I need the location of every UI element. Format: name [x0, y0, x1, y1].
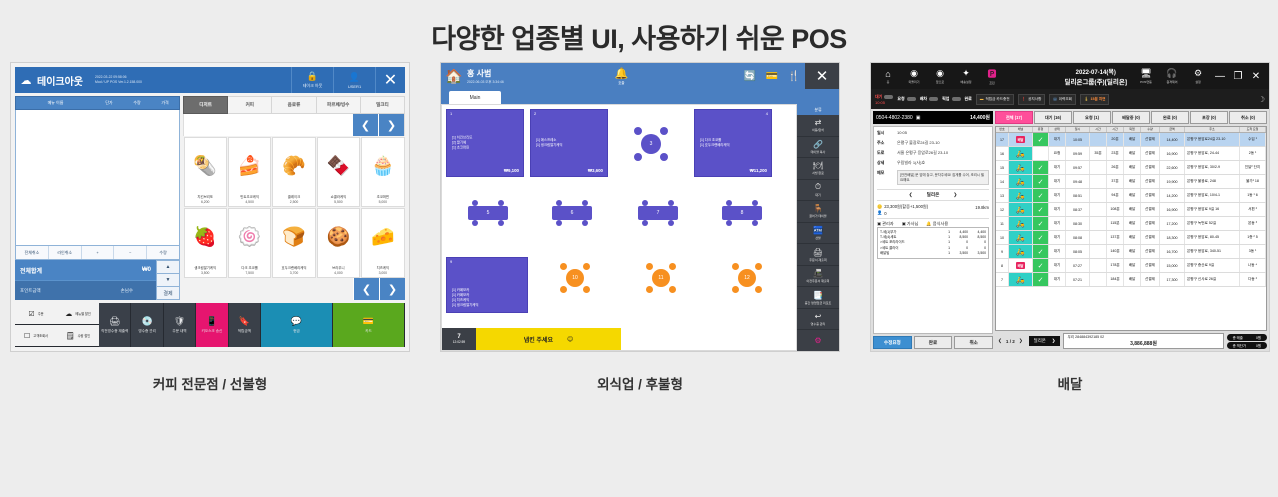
cell-address: 은평구 응암로, 24-44	[1185, 147, 1240, 160]
table-amount: ₩3,600	[588, 168, 603, 173]
pos1-title: 테이크아웃	[37, 73, 83, 88]
tab-main-floor[interactable]: Main	[449, 91, 501, 104]
pos1-close-button[interactable]: ✕	[375, 67, 405, 93]
tab-wait[interactable]: 대기 (16)	[1034, 111, 1072, 124]
order-table[interactable]: 번호 채널 유형 상태 일시 시간 시간 픽업 수량 금액 주소 도착 요청	[995, 126, 1267, 331]
status-chip-pickup[interactable]: 픽업	[942, 96, 960, 102]
cell-amount: 18,300	[1160, 231, 1185, 244]
product-tile[interactable]: 🍥 다크 초코롤 7,500	[228, 208, 271, 278]
sidebar-item-serve-done[interactable]: 🍽 서빙 완료	[797, 158, 839, 180]
table-items: [1] 치킨브리또 [2] 딸기에 [1] 초코머핀	[452, 135, 472, 150]
field-datetime: 일시 10:05	[877, 130, 989, 136]
document-icon: ▤	[1053, 97, 1056, 101]
pos1-cart-header: 메뉴 이름 단가 수량 가격	[15, 96, 180, 110]
cell-datetime: 09:48	[1066, 175, 1090, 188]
order-label: 주문	[38, 311, 44, 316]
table-number: 11	[652, 269, 670, 287]
tab-request[interactable]: 요청 (1)	[1073, 111, 1111, 124]
order-table-body: 17배달✓대기10:0520분배달선결제14,400은평구 응암로24길 23-…	[996, 133, 1266, 287]
menu-discount-button[interactable]: ☁ 메뉴별 할인	[57, 303, 99, 325]
request-edit-button[interactable]: 수정요청	[873, 336, 912, 349]
cell-pickup: 배달	[1124, 161, 1141, 174]
page-indicator: 1 / 2	[1006, 339, 1015, 344]
scroll-down-button[interactable]: ▼	[156, 274, 180, 287]
cancel-all-button[interactable]: 전체취소	[16, 246, 49, 259]
point-card-charge-button[interactable]: ▬ 적립금 카드충전	[976, 94, 1014, 105]
order-menu-list: T-세(1)부가 1 4,400 4,400 T-세(4)세트 1 8,500 …	[877, 227, 989, 259]
cell-status: 요청	[1049, 147, 1066, 160]
sidebar-item-move[interactable]: ⇄ 이동/합석	[797, 115, 839, 137]
tab-all[interactable]: 전체 (17)	[995, 111, 1033, 124]
cell-pickup: 배달	[1124, 245, 1141, 258]
cloud-icon: ☁	[65, 310, 72, 318]
cell-status: 대기	[1049, 217, 1066, 230]
cell-channel: 🛵	[1009, 217, 1033, 230]
cart-col-name: 메뉴 이름	[16, 100, 95, 106]
cell-no: 8	[996, 259, 1009, 272]
home-icon[interactable]: ⌂ 홈	[875, 69, 901, 84]
product-row: 🌯 치킨브리또 6,200 🍰 민트초코케익 4,500 🥐	[183, 136, 405, 207]
pos3-order-list-panel: 전체 (17) 대기 (16) 요청 (1) 배달중 (0) 완료 (0) 포장…	[995, 111, 1267, 349]
status-chip-done[interactable]: 완료	[965, 96, 972, 102]
table-row[interactable]: 17배달✓대기10:0520분배달선결제14,400은평구 응암로24길 23-…	[996, 133, 1266, 147]
product-image: 🍞	[282, 209, 306, 267]
cell-channel: 🛵	[1009, 273, 1033, 286]
table-number: 7	[638, 206, 678, 220]
home-icon[interactable]: 🏠	[441, 68, 467, 85]
cancel-button[interactable]: 취소	[954, 336, 993, 349]
tab-coffee[interactable]: 커피	[228, 96, 272, 114]
product-price: 4,000	[334, 271, 343, 275]
sidebar-item-reprint-prev[interactable]: 📠 이전주문서 재출력	[797, 266, 839, 288]
cell-status: 대기	[1049, 203, 1066, 216]
cell-amount: 17,300	[1160, 273, 1185, 286]
notice-text: 냅킨 주세요	[524, 335, 553, 344]
table-number: 12	[738, 269, 756, 287]
cell-amount: 14,200	[1160, 189, 1185, 202]
product-image: 🧀	[371, 209, 395, 267]
gear-icon[interactable]: ⚙ 설정	[1185, 68, 1211, 84]
pos1-body: 메뉴 이름 단가 수량 가격 전체취소 라인취소 + − 수량	[15, 93, 405, 300]
food-button[interactable]: 🔔 음식사용	[926, 221, 948, 227]
sidebar-item-settings[interactable]: ⚙	[797, 330, 839, 351]
cell-no: 14	[996, 175, 1009, 188]
table-row[interactable]: 16🛵요청09:5935분23분배달선결제16,900은평구 응암로, 24-4…	[996, 147, 1266, 161]
table-12[interactable]: 12	[732, 263, 762, 293]
receipt-manage-button[interactable]: 💿 영수증 관리	[131, 303, 163, 347]
cell-payment: 선결제	[1141, 175, 1160, 188]
table-row[interactable]: 15🛵✓대기09:5726분배달선결제22,600은평구 응암로, 30/2-9…	[996, 161, 1266, 175]
sidebar-item-drag-table[interactable]: 🪑 끌어가 테이블	[797, 201, 839, 223]
product-tile[interactable]: 🥐 쿨레이크 2,500	[272, 137, 315, 207]
product-tile[interactable]: 🍞 호두크랜베리케익 3,700	[272, 208, 315, 278]
page-next-button-bottom[interactable]: ❯	[379, 278, 405, 300]
product-price: 7,500	[245, 271, 254, 275]
kiosk-send-button[interactable]: 📱 키오스크 송신	[196, 303, 228, 347]
cell-no: 16	[996, 147, 1009, 160]
user-icon: 👤	[349, 72, 360, 83]
table-3[interactable]: 3	[634, 127, 668, 161]
cell-note: 본동 ³	[1240, 217, 1266, 230]
product-price: 3,000	[379, 271, 388, 275]
chevron-right-icon: ❯	[1052, 338, 1056, 344]
point-amount-button[interactable]: 🔖 적립금액	[229, 303, 261, 347]
maximize-button[interactable]: ❐	[1229, 71, 1247, 82]
reprint-receipt-button[interactable]: 🖨 직전영수증 재출력	[99, 303, 131, 347]
tab-delivering[interactable]: 배달중 (0)	[1112, 111, 1150, 124]
cell-channel: 🛵	[1009, 147, 1033, 160]
table-row[interactable]: 13🛵✓대기08:5194분배달선결제14,200은평구 응암로, 10/4-1…	[996, 189, 1266, 203]
cell-payment: 선결제	[1141, 231, 1160, 244]
distance-label: 19.8km	[975, 205, 989, 210]
cell-channel: 🛵	[1009, 203, 1033, 216]
cell-channel: 🛵	[1009, 245, 1033, 258]
table-amount: ₩11,200	[750, 168, 767, 173]
qty-plus-button[interactable]: +	[82, 246, 115, 259]
toolbar-order-stack: ☑ 주문 ☐ 고객조회서	[15, 303, 57, 347]
tab-milktea[interactable]: 밀크티	[361, 96, 405, 114]
cell-datetime: 08:37	[1066, 203, 1090, 216]
cell-amount: 19,900	[1160, 175, 1185, 188]
notice-table: 7 12:02:59	[442, 328, 476, 350]
product-image: 🍓	[193, 209, 217, 267]
cell-no: 10	[996, 231, 1009, 244]
order-phone-bar: 0504-4802-2380 ▣ 14,400원	[873, 111, 993, 124]
history-button[interactable]: ▤ 이력조회	[1049, 94, 1076, 105]
table-9[interactable]: 9 [1] 카페모카 [1] 카페모카 [1] 치즈케익 [1] 생크림딸기케익	[446, 257, 528, 313]
refresh-icon[interactable]: 🔄	[739, 71, 761, 82]
report-icon: 📑	[813, 291, 823, 300]
kiosk-send-label: 키오스크 송신	[202, 329, 223, 334]
cell-cook-time: 20분	[1107, 133, 1124, 146]
page-prev-button-bottom[interactable]: ❮	[353, 278, 379, 300]
pos3-frame: ⌂ 홈 ◉ 되돌리기 ◉ 앞으로 ✦ 배송설정 🅿 프린 2022-07-14(…	[870, 62, 1270, 352]
product-tile[interactable]: 🧀 치즈케익 3,000	[361, 208, 404, 278]
tab-dessert[interactable]: 디저트	[183, 96, 228, 114]
call-bell-label: 호출	[618, 80, 624, 85]
cell-elapsed	[1090, 217, 1107, 230]
move-icon: ⇄	[815, 118, 822, 127]
pos-card-coffee: ☁ 테이크아웃 2022-03-22 09:58:06 Mod / UP POS…	[10, 62, 410, 393]
cell-pickup: 배달	[1124, 273, 1141, 286]
cell-cook-time: 23분	[1107, 147, 1124, 160]
cell-type: ✓	[1033, 175, 1049, 188]
pos-card-restaurant: 🏠 홍 사범 2022-06-03 오후 3:34:46 🔔 호출 🔄 💳 🍴 …	[440, 62, 840, 393]
pos1-mode-label: 테이크 아웃	[303, 83, 323, 89]
tag-icon: 🔖	[239, 316, 250, 327]
customer-phone: 0504-4802-2380	[876, 115, 913, 121]
pos3-status-bar: 대기 10:05 요청 배차 픽업 완료 ▬ 적립금 카드충전 ❗ 공지사항 ▤…	[871, 89, 1269, 109]
tab-takeout[interactable]: 포장 (0)	[1190, 111, 1228, 124]
account-info: 우리 284884392185 02 3,886,888원	[1063, 333, 1223, 349]
table-number: 2	[534, 111, 536, 116]
table-row[interactable]: 14🛵✓대기09:4837분배달선결제19,900은평구 불광로, 248불가¹…	[996, 175, 1266, 189]
cell-no: 13	[996, 189, 1009, 202]
cell-datetime: 09:59	[1066, 147, 1090, 160]
tab-cancel[interactable]: 취소 (0)	[1229, 111, 1267, 124]
caption-delivery: 배달	[870, 373, 1270, 393]
rider-next-icon[interactable]: ❯	[953, 192, 957, 198]
product-tile[interactable]: 🍪 브라우니 4,000	[317, 208, 360, 278]
card-icon[interactable]: 💳	[761, 71, 783, 82]
chair-icon: 🪑	[813, 204, 823, 213]
cash-pay-label: 현금	[293, 329, 300, 334]
customer-lookup-label: 고객조회서	[33, 333, 48, 338]
order-count: 👤 0	[877, 210, 989, 216]
customer-lookup-button[interactable]: ☐ 고객조회서	[15, 325, 57, 347]
table-6[interactable]: 6	[552, 200, 592, 226]
page-prev-button[interactable]: ❮	[352, 114, 378, 136]
page-next-button[interactable]: ❯	[378, 114, 404, 136]
pos1-point-row: 포인트금액 손님수	[15, 280, 156, 300]
pos3-status-tabs: 전체 (17) 대기 (16) 요청 (1) 배달중 (0) 완료 (0) 포장…	[995, 111, 1267, 124]
disc-icon: 💿	[142, 316, 153, 327]
table-2[interactable]: 2 [1] 애스프레소 [1] 생크림딸기케익 ₩3,600	[530, 109, 608, 177]
pos2-header: 🏠 홍 사범 2022-06-03 오후 3:34:46 🔔 호출 🔄 💳 🍴 …	[441, 63, 839, 89]
cash-pay-button[interactable]: 💬 현금	[261, 303, 333, 347]
close-button[interactable]: ✕	[1247, 71, 1265, 82]
cell-amount: 15,000	[1160, 259, 1185, 272]
status-chip-assign[interactable]: 배차	[920, 96, 938, 102]
cell-address: 은평구 불광로, 248	[1185, 175, 1240, 188]
order-fields: 일시 10:05 주소 은평구 불광로24길 23-10 도로 서울 은평구 응…	[873, 126, 993, 334]
smiley-icon: 😊	[567, 336, 573, 343]
pay-button[interactable]: 결제	[156, 287, 180, 300]
pos1-page-nav-top: ❮ ❯	[183, 114, 405, 136]
cell-type: ✓	[1033, 189, 1049, 202]
status-chip-request[interactable]: 요청	[897, 96, 915, 102]
pos2-close-button[interactable]: ✕	[805, 63, 839, 89]
field-memo: 메모 [안전배달] 문 앞에 놓고, 문자주세요! 집게를 수어, 조리시 필요…	[877, 170, 989, 185]
tab-complete[interactable]: 완료 (0)	[1151, 111, 1189, 124]
table-5[interactable]: 5	[468, 200, 508, 226]
plate-icon: 🍽	[813, 161, 823, 170]
table-row[interactable]: 11🛵✓대기08:30115분배달선결제17,200은평구 녹번로 52길본동 …	[996, 217, 1266, 231]
pos1-total-arrows: ▲ ▼ 결제	[156, 260, 180, 300]
table-1[interactable]: 1 [1] 치킨브리또 [2] 딸기에 [1] 초코머핀 ₩9,100	[446, 109, 524, 177]
cell-pickup: 배달	[1124, 189, 1141, 202]
link-icon: 🔗	[813, 140, 823, 149]
sidebar-item-copy[interactable]: 🔗 테이블 복사	[797, 137, 839, 159]
caption-coffee: 커피 전문점 / 선불형	[10, 373, 410, 393]
delivery-settings-icon[interactable]: ✦ 배송설정	[953, 68, 979, 84]
cell-note: 수입 ¹	[1240, 133, 1266, 146]
receipt-manage-label: 영수증 관리	[138, 329, 156, 334]
cell-amount: 14,400	[1160, 133, 1185, 146]
card-pay-button[interactable]: 💳 카드	[333, 303, 405, 347]
cell-address: 은평구 신사로 26길	[1185, 273, 1240, 286]
cell-payment: 선결제	[1141, 133, 1160, 146]
pos3-footer: ❮ 1 / 2 ❯ 딜리온❯ 우리 284884392185 02 3,886,…	[995, 333, 1267, 349]
screenshot-gallery: ☁ 테이크아웃 2022-03-22 09:58:06 Mod / UP POS…	[0, 62, 1278, 393]
cell-note: 서편 ²	[1240, 203, 1266, 216]
complete-button[interactable]: 완료	[914, 336, 953, 349]
table-number: 9	[450, 259, 452, 264]
cell-payment: 선결제	[1141, 161, 1160, 174]
rider-selector[interactable]: ❮ 딜리온 ❯	[877, 189, 989, 201]
cell-pickup: 배달	[1124, 203, 1141, 216]
search-icon[interactable]: ▣	[916, 115, 921, 121]
cell-note: 2동 ¹	[1240, 147, 1266, 160]
note-icon: 🗒	[66, 332, 75, 340]
back-icon[interactable]: ◉ 되돌리기	[901, 68, 927, 84]
qty-minus-button[interactable]: −	[114, 246, 147, 259]
cell-payment: 선결제	[1141, 189, 1160, 202]
table-row[interactable]: 10🛵✓대기08:08137분배달선결제18,300은평구 응암로, 80-45…	[996, 231, 1266, 245]
product-image: 🍪	[327, 209, 351, 267]
pos1-frame: ☁ 테이크아웃 2022-03-22 09:58:06 Mod / UP POS…	[10, 62, 410, 352]
cell-payment: 선결제	[1141, 217, 1160, 230]
product-image: 🍫	[327, 138, 351, 196]
table-11[interactable]: 11	[646, 263, 676, 293]
pagination[interactable]: ❮ 1 / 2 ❯	[995, 338, 1026, 344]
table-number: 5	[468, 206, 508, 220]
table-row[interactable]: 8배달✓대기07:27178분배달선결제15,000은평구 증산로 9길나동 ⁴	[996, 259, 1266, 273]
cell-address: 은평구 응암로, 30/2-9	[1185, 161, 1240, 174]
product-tile[interactable]: 🍫 쇼콜라케익 5,500	[317, 137, 360, 207]
pos1-menu-panel: 디저트 커피 음료류 파르페/빙수 밀크티 ❮ ❯ 🌯	[183, 96, 405, 300]
cell-address: 은평구 녹번로 52길	[1185, 217, 1240, 230]
qty-label[interactable]: 수량	[147, 246, 179, 259]
remote-support-icon[interactable]: 🎧 원격제어	[1159, 68, 1185, 84]
cell-cook-time: 108분	[1107, 203, 1124, 216]
cell-status: 대기	[1049, 245, 1066, 258]
cancel-line-button[interactable]: 라인취소	[49, 246, 82, 259]
table-8[interactable]: 8	[722, 200, 762, 226]
qty-discount-label: 수량 할인	[78, 333, 91, 338]
order-history-button[interactable]: 🛡 주문 내역	[164, 303, 196, 347]
cell-pickup: 배달	[1124, 231, 1141, 244]
pos3-app: ⌂ 홈 ◉ 되돌리기 ◉ 앞으로 ✦ 배송설정 🅿 프린 2022-07-14(…	[871, 63, 1269, 351]
cell-elapsed	[1090, 161, 1107, 174]
cell-type: ✓	[1033, 133, 1049, 146]
worker-button[interactable]: ▣ 가사님	[902, 221, 919, 227]
cell-channel: 🛵	[1009, 231, 1033, 244]
tab-beverage[interactable]: 음료류	[272, 96, 316, 114]
pos3-header-title: 2022-07-14(목) 딜리온그룹(주)[딜리온]	[1065, 67, 1127, 86]
header-shop: 딜리온그룹(주)[딜리온]	[1065, 76, 1127, 86]
pos1-category-tabs: 디저트 커피 음료류 파르페/빙수 밀크티	[183, 96, 405, 114]
card-pay-label: 카드	[365, 329, 372, 334]
cell-type	[1033, 147, 1049, 160]
cell-cook-time: 140분	[1107, 245, 1124, 258]
reprint-receipt-label: 직전영수증 재출력	[101, 329, 128, 334]
gear-icon: ⚙	[814, 336, 821, 345]
print-icon[interactable]: 🅿 프린	[979, 67, 1005, 85]
cell-no: 17	[996, 133, 1009, 146]
cell-type: ✓	[1033, 273, 1049, 286]
total-sales-pill: 총 매출 0원	[1227, 334, 1267, 341]
sidebar-item-receipt-manage[interactable]: ↩ 영수증 관리	[797, 309, 839, 331]
cash-icon: 💬	[291, 316, 302, 327]
cell-type: ✓	[1033, 231, 1049, 244]
table-row[interactable]: 12🛵✓대기08:37108분배달선결제16,900은평구 응암로 9길 16서…	[996, 203, 1266, 217]
sales-pills: 총 매출 0원 총 객단가 0원	[1227, 334, 1267, 349]
avg-sales-pill: 총 객단가 0원	[1227, 342, 1267, 349]
cell-amount: 22,600	[1160, 161, 1185, 174]
pos1-mode-button[interactable]: 🔒 테이크 아웃	[291, 67, 333, 93]
pos2-datetime: 2022-06-03 오후 3:34:46	[467, 79, 504, 84]
scroll-up-button[interactable]: ▲	[156, 260, 180, 274]
cell-amount: 17,200	[1160, 217, 1185, 230]
table-number: 6	[552, 206, 592, 220]
manager-button[interactable]: ▣ 관리자	[877, 221, 894, 227]
cell-elapsed	[1090, 259, 1107, 272]
footer-rider[interactable]: 딜리온❯	[1029, 336, 1061, 346]
cutlery-icon[interactable]: 🍴	[783, 71, 805, 82]
cell-datetime: 07:27	[1066, 259, 1090, 272]
cell-address: 은평구 응암로24길 23-10	[1185, 133, 1240, 146]
call-notice-bar[interactable]: 7 12:02:59 냅킨 주세요 😊	[442, 328, 621, 350]
product-image: 🍰	[238, 138, 262, 196]
product-tile[interactable]: 🍓 생크림딸기케익 3,500	[184, 208, 227, 278]
cell-datetime: 09:57	[1066, 161, 1090, 174]
call-bell-button[interactable]: 🔔 호출	[615, 67, 629, 85]
sidebar-item-prepaid[interactable]: 🏧 선불	[797, 223, 839, 245]
cell-no: 11	[996, 217, 1009, 230]
tab-parfait[interactable]: 파르페/빙수	[317, 96, 361, 114]
table-10[interactable]: 10	[560, 263, 590, 293]
cell-note: 3동 ¹	[1240, 245, 1266, 258]
cell-status: 대기	[1049, 259, 1066, 272]
pos2-title: 홍 사범	[467, 68, 504, 79]
card-icon: 💳	[363, 316, 374, 327]
table-7[interactable]: 7	[638, 200, 678, 226]
sidebar-item-reprint-order[interactable]: 🖨 주문서 재출력	[797, 244, 839, 266]
pos3-header: ⌂ 홈 ◉ 되돌리기 ◉ 앞으로 ✦ 배송설정 🅿 프린 2022-07-14(…	[871, 63, 1269, 89]
product-image: 🧁	[371, 138, 395, 196]
cell-elapsed	[1090, 175, 1107, 188]
minimize-button[interactable]: —	[1211, 71, 1229, 82]
sidebar-item-wait[interactable]: ⏱ 대기	[797, 180, 839, 202]
pos2-main: 1 [1] 치킨브리또 [2] 딸기에 [1] 초코머핀 ₩9,100 2 [1…	[441, 104, 839, 351]
cell-note: 1동 ¹ 6	[1240, 189, 1266, 202]
forward-icon[interactable]: ◉ 앞으로	[927, 68, 953, 84]
table-items: [1] 애스프레소 [1] 생크림딸기케익	[536, 138, 563, 148]
product-tile[interactable]: 🍰 민트초코케익 4,500	[228, 137, 271, 207]
cell-pickup: 배달	[1124, 133, 1141, 146]
cell-payment: 선결제	[1141, 245, 1160, 258]
product-price: 2,500	[290, 200, 299, 204]
page-prev-icon[interactable]: ❮	[998, 338, 1002, 344]
printer-icon: 🖨	[109, 316, 120, 327]
page-next-icon[interactable]: ❯	[1019, 338, 1023, 344]
rider-prev-icon[interactable]: ❮	[909, 192, 913, 198]
table-row[interactable]: 9🛵✓대기08:05140분배달선결제16,700은평구 응암로, 340-51…	[996, 245, 1266, 259]
qty-discount-button[interactable]: 🗒 수량 할인	[57, 325, 99, 347]
product-tile[interactable]: 🌯 치킨브리또 6,200	[184, 137, 227, 207]
cell-type: ✓	[1033, 203, 1049, 216]
notice-message: 냅킨 주세요 😊	[476, 328, 621, 350]
order-button[interactable]: ☑ 주문	[15, 303, 57, 325]
product-price: 4,500	[245, 200, 254, 204]
product-tile[interactable]: 🧁 초코머핀 5,000	[361, 137, 404, 207]
notice-button[interactable]: ❗ 공지사항	[1018, 94, 1046, 105]
cart-col-price: 단가	[95, 100, 123, 106]
pos1-user-button[interactable]: 👤 USER1	[333, 67, 375, 93]
pos1-user-label: USER1	[348, 84, 361, 89]
cell-address: 은평구 증산로 9길	[1185, 259, 1240, 272]
pos-link-icon[interactable]: 🖥 POS연동	[1133, 68, 1159, 84]
cell-note: 1층 ² 5	[1240, 231, 1266, 244]
megaphone-icon: ❗	[1022, 97, 1026, 101]
pos1-cart-list[interactable]	[15, 110, 180, 246]
cell-cook-time: 178분	[1107, 259, 1124, 272]
cell-channel: 🛵	[1009, 189, 1033, 202]
table-row[interactable]: 7🛵✓대기07:21184분배달선결제17,300은평구 신사로 26길다동 ²	[996, 273, 1266, 287]
table-4[interactable]: 4 [1] 다크 초코롤 [1] 호두크랜베리케익 ₩11,200	[694, 109, 772, 177]
sidebar-item-report[interactable]: 📑 중간 영업입금 리포트	[797, 287, 839, 309]
